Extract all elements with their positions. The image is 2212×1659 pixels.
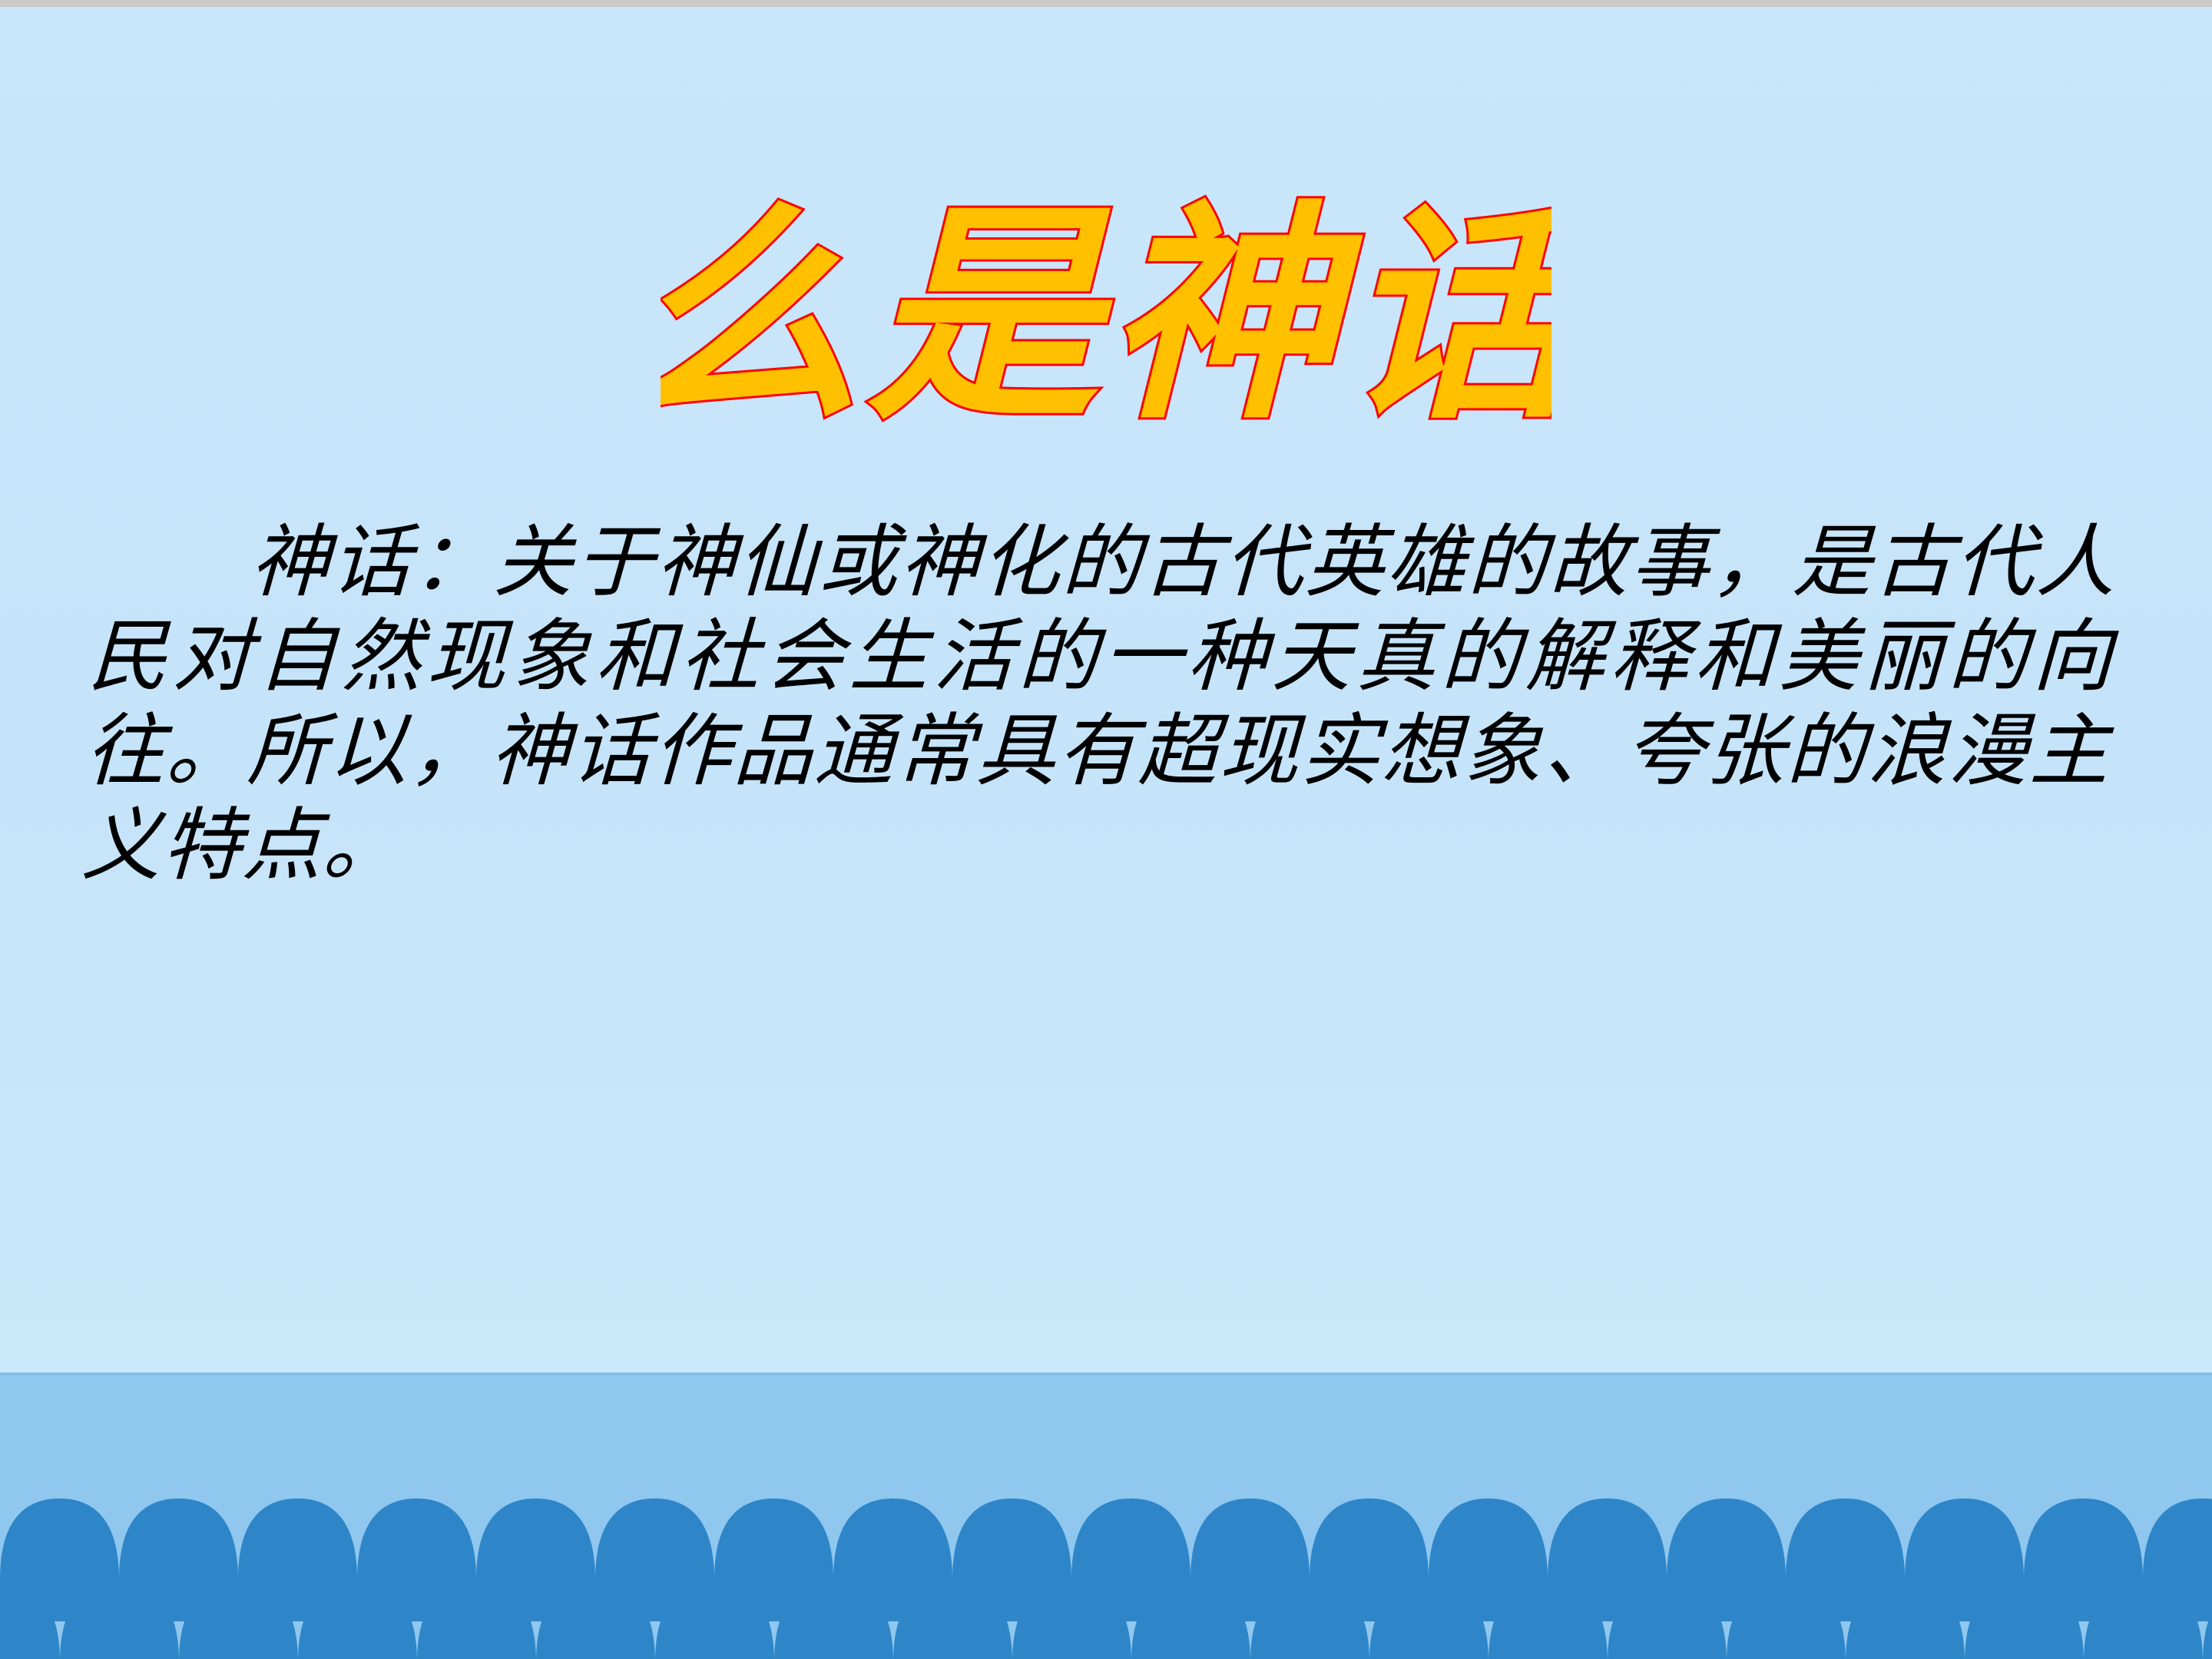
slide-canvas: 什么是神话？ 神话：关于神仙或神化的古代英雄的故事，是古代人民对自然现象和社会生… (0, 0, 2212, 1659)
bottom-decoration-band (0, 1373, 2212, 1659)
scallop-arches-lower (0, 1581, 2212, 1659)
band-top-divider (0, 1373, 2212, 1376)
body-paragraph-block: 神话：关于神仙或神化的古代英雄的故事，是古代人民对自然现象和社会生活的一种天真的… (94, 516, 2118, 894)
top-edge-strip (0, 0, 2212, 7)
body-paragraph-text: 神话：关于神仙或神化的古代英雄的故事，是古代人民对自然现象和社会生活的一种天真的… (81, 516, 2118, 894)
scallop-row-lower (0, 1581, 2212, 1659)
